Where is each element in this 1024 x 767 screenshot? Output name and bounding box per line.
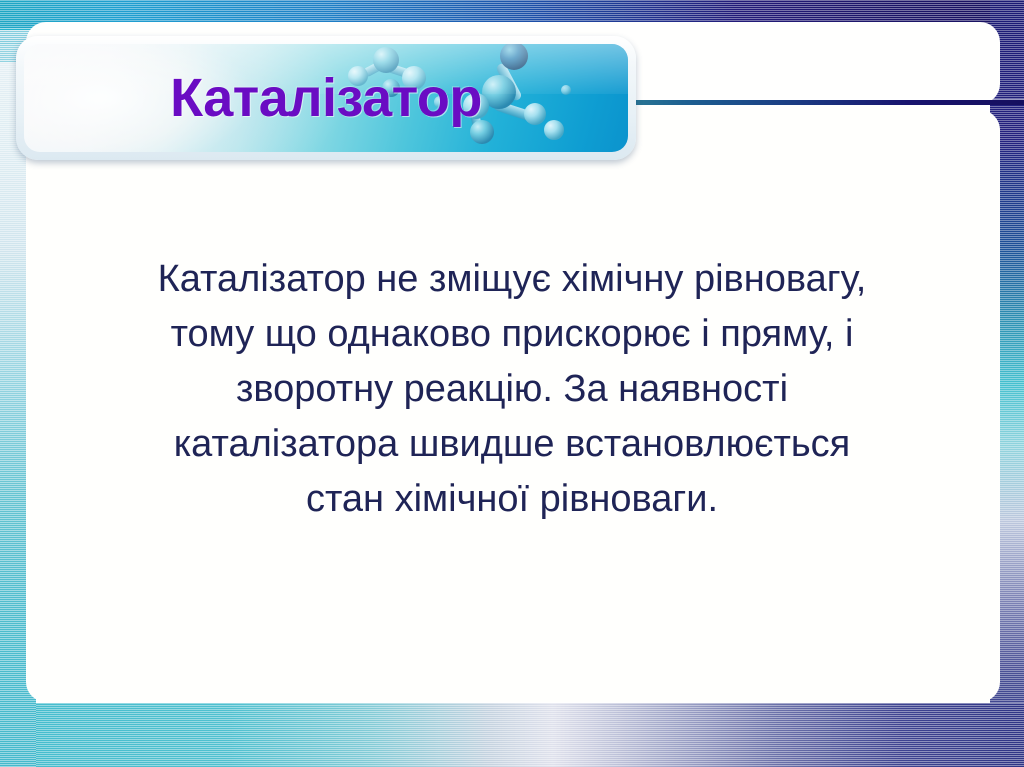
body-line: каталізатора швидше встановлюється bbox=[60, 417, 964, 472]
title-divider-rule bbox=[612, 100, 1024, 105]
body-line: тому що однаково прискорює і пряму, і bbox=[60, 307, 964, 362]
body-line: стан хімічної рівноваги. bbox=[60, 472, 964, 527]
title-plate-frame: Каталізатор bbox=[16, 36, 636, 160]
presentation-slide: Каталізатор Каталізатор не зміщує хімічн… bbox=[0, 0, 1024, 767]
title-plate: Каталізатор bbox=[24, 44, 628, 152]
bottom-decorative-band bbox=[0, 703, 1024, 767]
slide-title: Каталізатор bbox=[24, 44, 628, 152]
slide-body-text: Каталізатор не зміщує хімічну рівновагу,… bbox=[60, 252, 964, 527]
body-line: зворотну реакцію. За наявності bbox=[60, 362, 964, 417]
body-line: Каталізатор не зміщує хімічну рівновагу, bbox=[60, 252, 964, 307]
